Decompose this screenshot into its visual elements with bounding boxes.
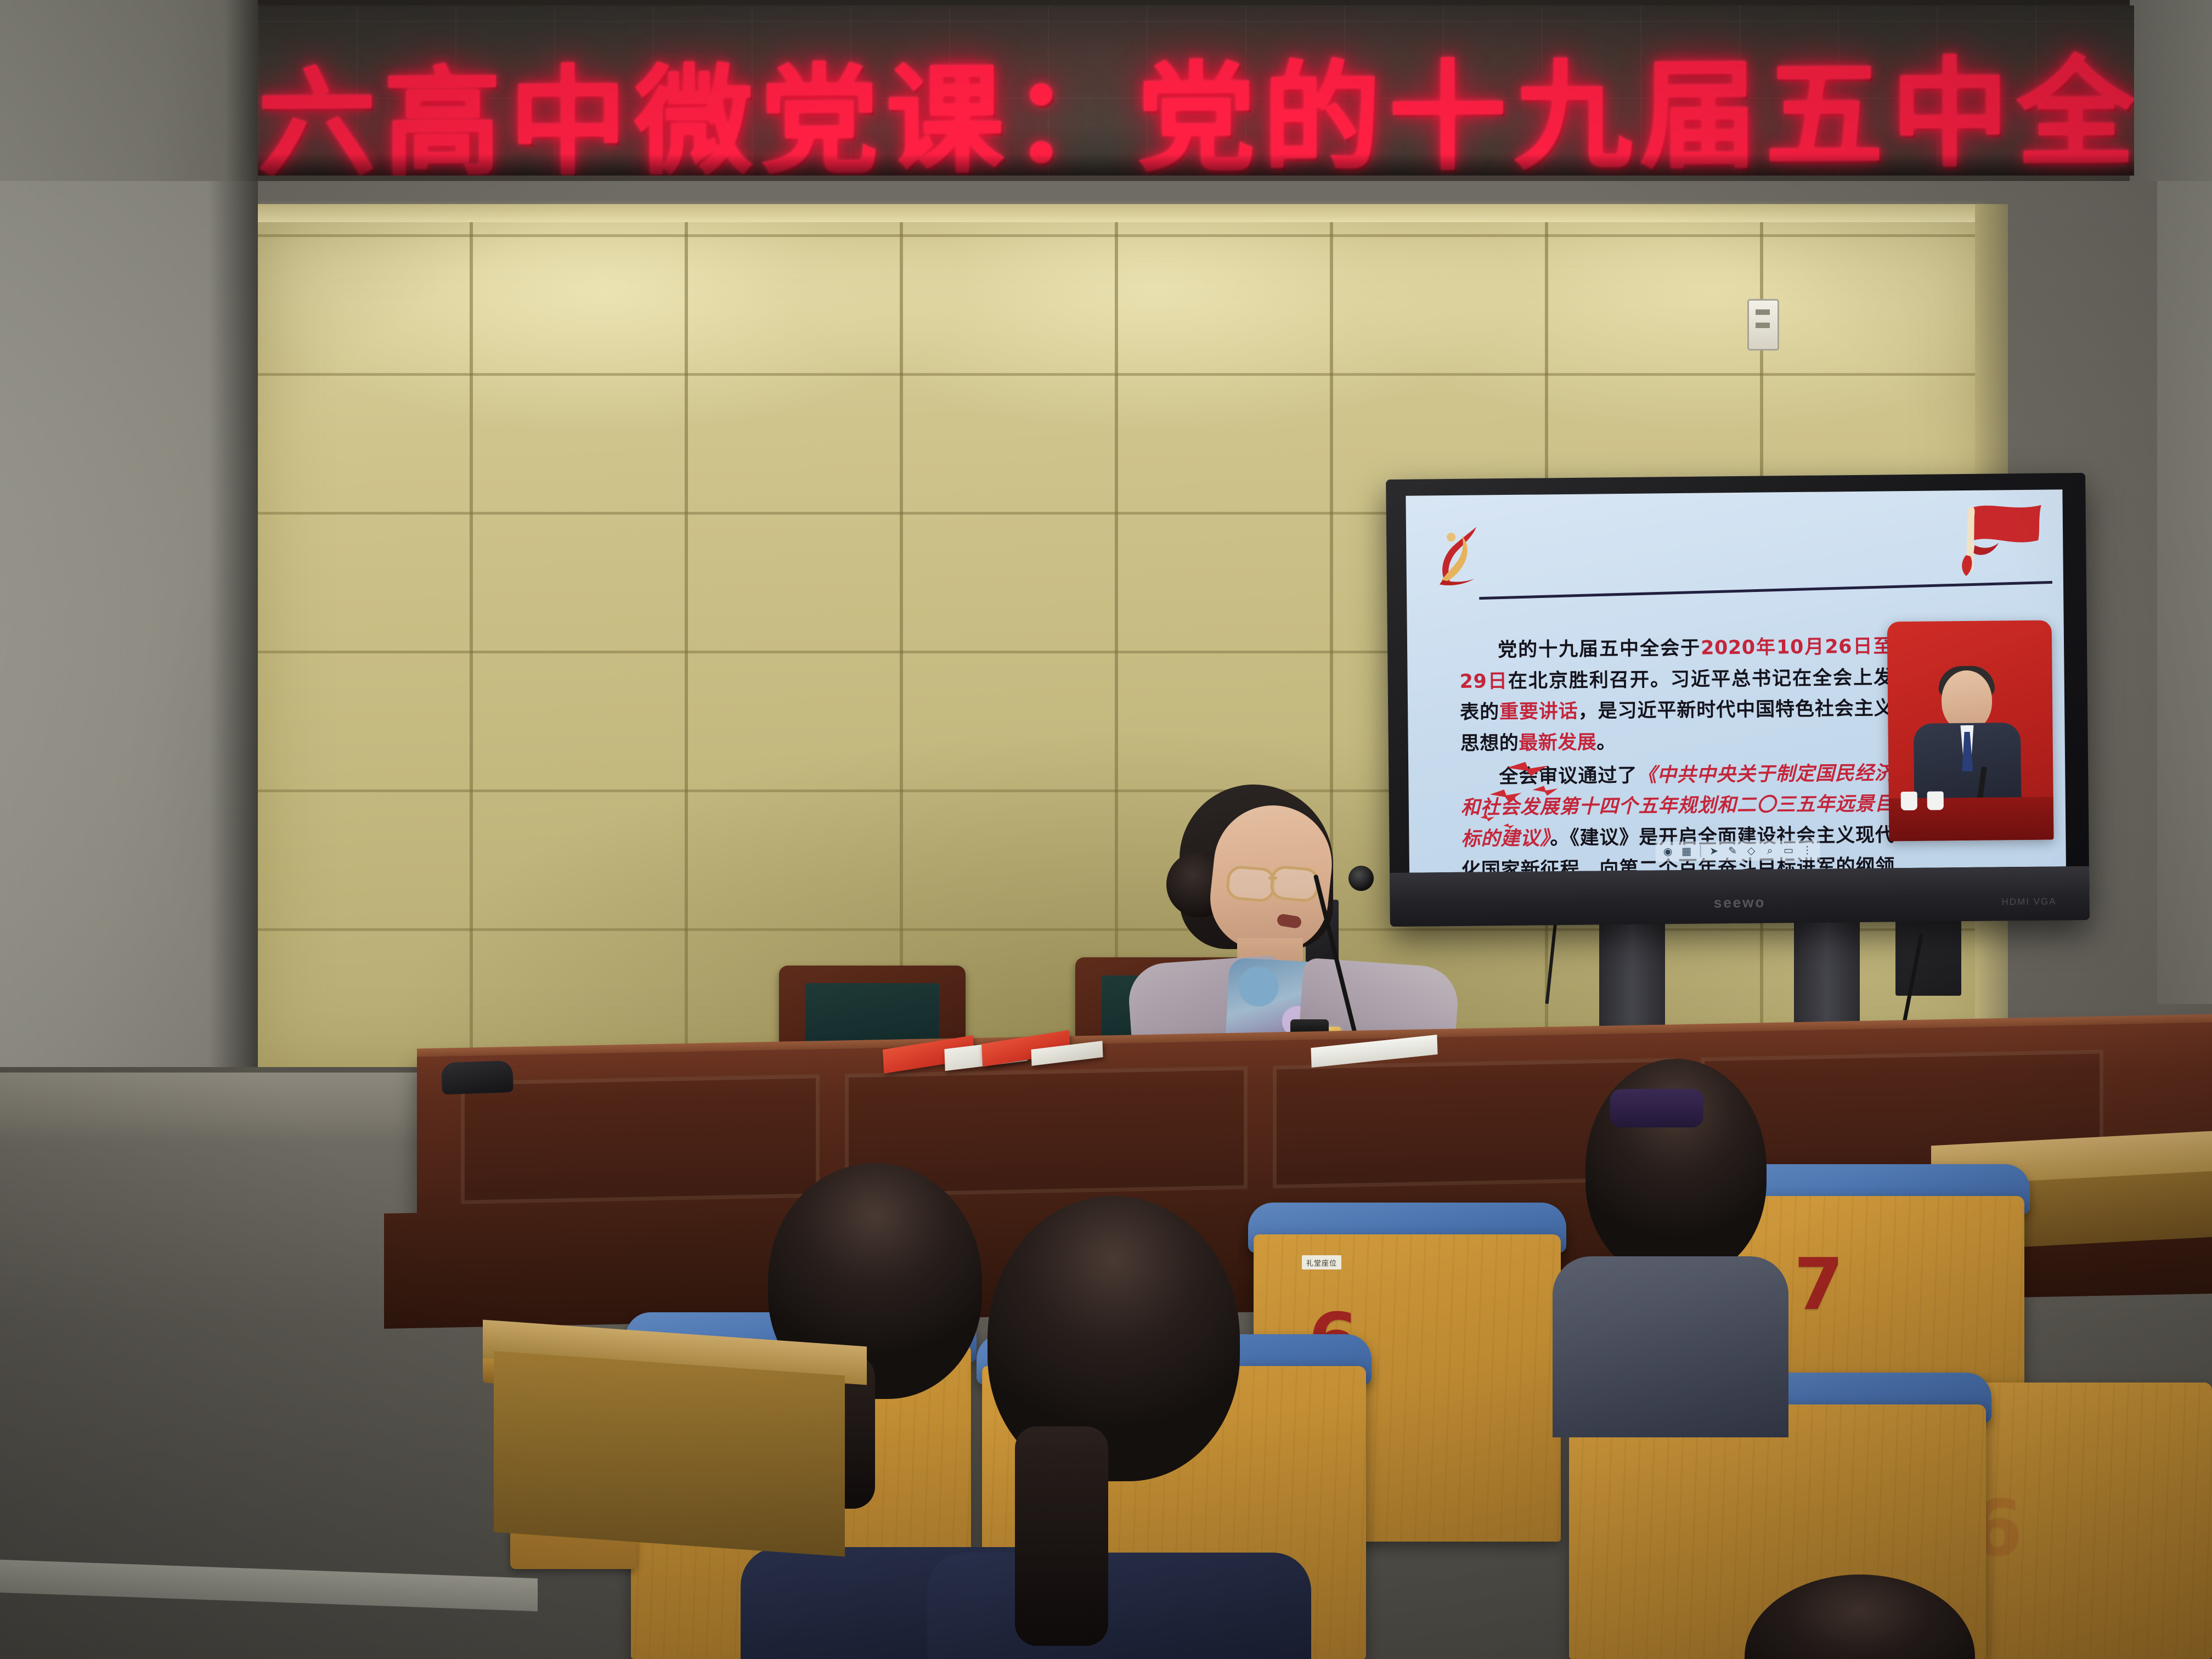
slide-divider-rule [1479, 581, 2052, 600]
red-flag-icon [1942, 502, 2044, 580]
audience-shoulders-1 [927, 1553, 1311, 1659]
wall-right-pier [2157, 181, 2212, 1004]
more-options-icon[interactable]: ⋮ [1799, 843, 1815, 857]
wall-outlet [1747, 299, 1779, 351]
display-screen[interactable]: 党的十九届五中全会于2020年10月26日至29日在北京胜利召开。习近平总书记在… [1406, 489, 2066, 872]
seat-number: 7 [1794, 1243, 1843, 1326]
photo-cup-left [1901, 792, 1917, 810]
audience-hair-tie [1610, 1089, 1703, 1127]
toolbar-separator [1700, 845, 1701, 857]
pen-icon[interactable]: ✎ [1724, 844, 1741, 858]
wall-speaker-right [1895, 913, 1961, 996]
hammer-sickle-icon [1429, 518, 1496, 592]
banner-title-text: 六高中微党课：党的十九届五中全会精神宣讲 [258, 18, 2134, 176]
seat-label-tag: 礼堂座位 [1302, 1255, 1341, 1269]
presenter-glasses-left [1225, 865, 1276, 902]
flying-doves-icon [1474, 757, 1595, 840]
audience-head-4 [1745, 1575, 1975, 1659]
display-chin: seewo HDMI VGA [1390, 866, 2090, 927]
banner-shadow [258, 154, 2134, 176]
dove-5 [1503, 823, 1514, 829]
smart-display[interactable]: 党的十九届五中全会于2020年10月26日至29日在北京胜利召开。习近平总书记在… [1386, 473, 2090, 927]
laser-pointer-icon[interactable]: ◉ [1660, 844, 1676, 859]
cursor-arrow-icon[interactable]: ➤ [1706, 844, 1722, 858]
display-brand-label: seewo [1714, 894, 1766, 912]
left-desk-body [494, 1351, 845, 1557]
lecture-hall-photo: 六高中微党课：党的十九届五中全会精神宣讲 [0, 0, 2212, 1659]
photo-cup-right [1927, 791, 1944, 810]
presenter-glasses-right [1269, 865, 1320, 902]
highlighter-icon[interactable]: ◇ [1743, 844, 1759, 858]
dove-2 [1490, 789, 1522, 802]
panel-light-cove [258, 204, 1986, 224]
dove-4 [1480, 815, 1494, 821]
slide-leader-photo [1887, 620, 2054, 842]
dove-3 [1532, 786, 1558, 795]
presentation-toolbar[interactable]: ◉ ▦ ➤ ✎ ◇ ⌕ ▭ ⋮ [1655, 840, 1820, 862]
table-microphone-head [1348, 866, 1374, 891]
eraser-icon[interactable]: ▭ [1780, 843, 1797, 857]
hair [1745, 1575, 1975, 1659]
ceiling-right-column [2130, 0, 2212, 204]
magnifier-icon[interactable]: ⌕ [1762, 843, 1778, 857]
audience-ponytail-2 [1015, 1426, 1108, 1646]
display-port-label: HDMI VGA [2001, 896, 2056, 907]
event-banner: 六高中微党课：党的十九届五中全会精神宣讲 [258, 5, 2134, 176]
black-pouch [441, 1060, 513, 1095]
dove-1 [1507, 761, 1548, 776]
ceiling-left-column [0, 0, 258, 204]
head-table-panel-1 [461, 1074, 820, 1204]
slide-paragraph-1: 党的十九届五中全会于2020年10月26日至29日在北京胜利召开。习近平总书记在… [1459, 631, 1894, 759]
slide-thumbnails-icon[interactable]: ▦ [1678, 844, 1695, 859]
audience-shoulders-3 [1553, 1256, 1788, 1437]
presenter-glasses-bridge [1268, 877, 1277, 879]
